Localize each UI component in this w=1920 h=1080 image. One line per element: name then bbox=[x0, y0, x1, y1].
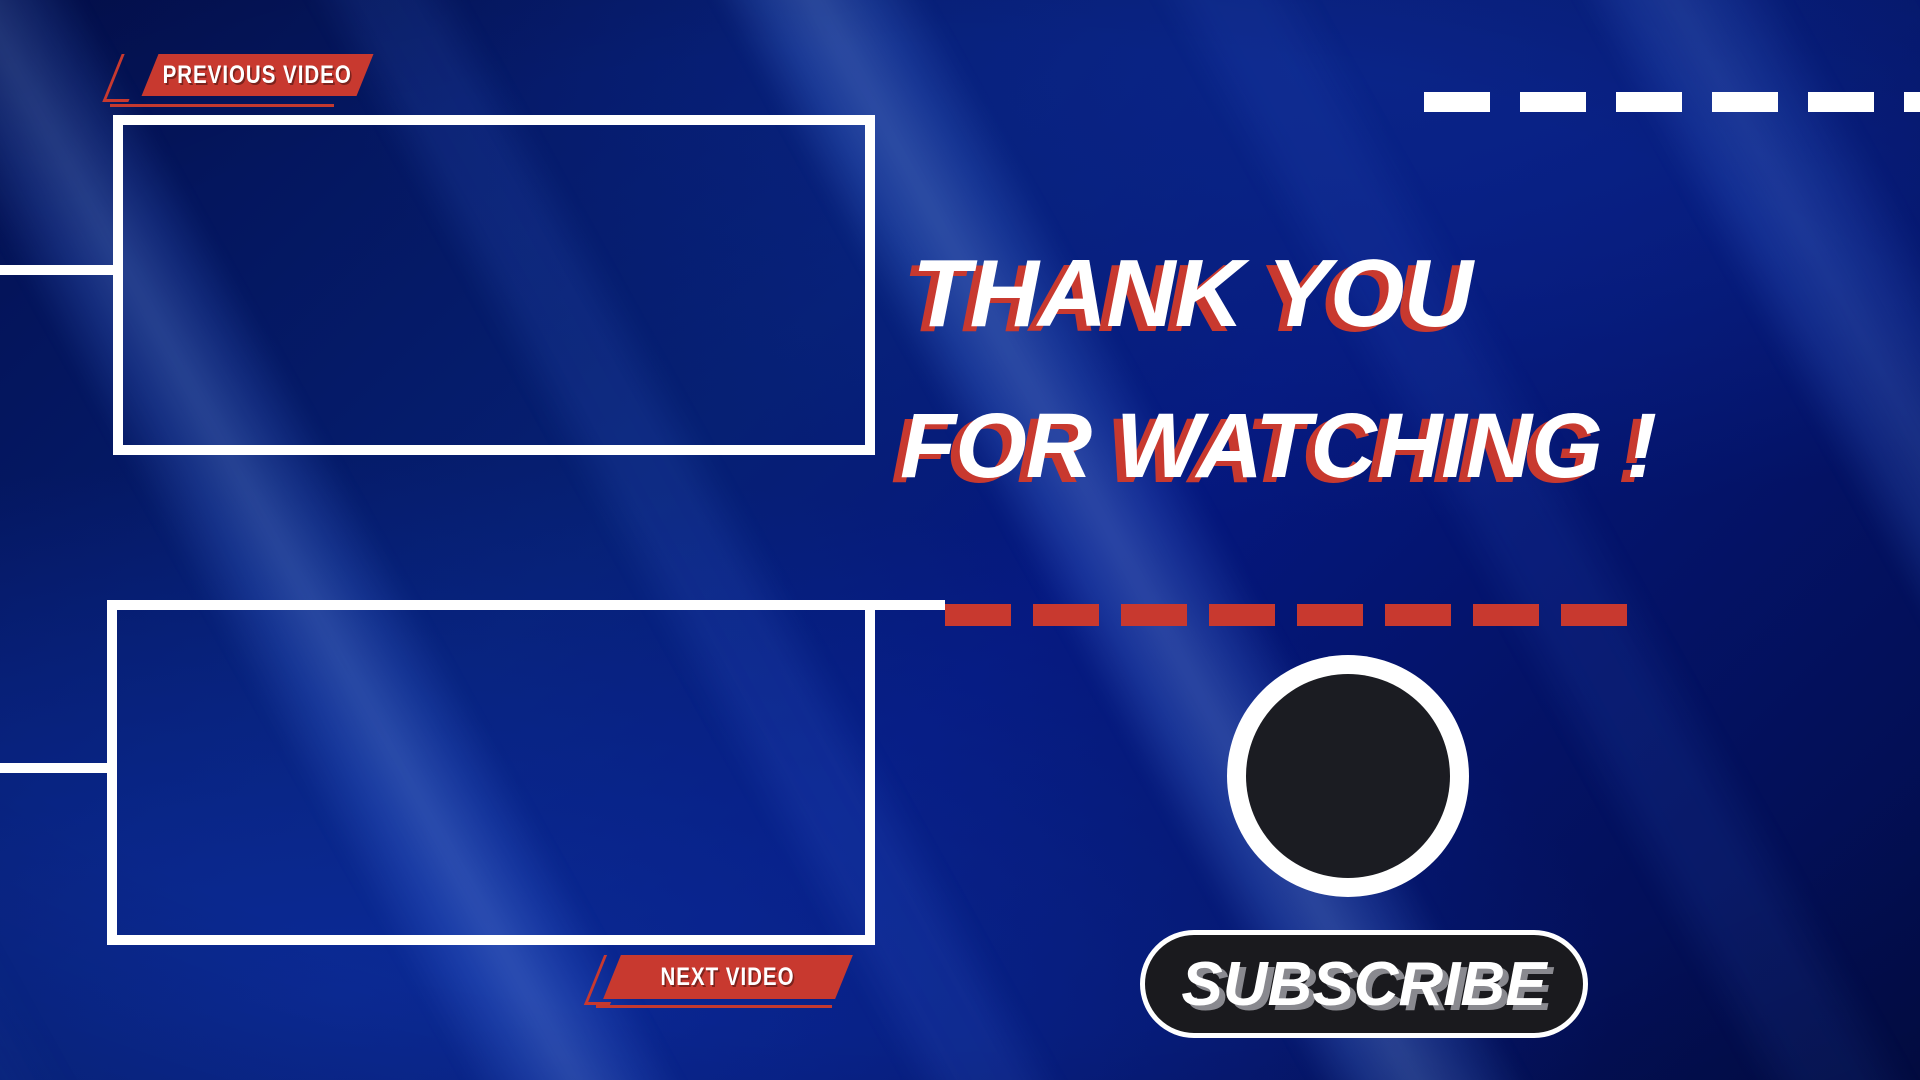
dashed-rule-red bbox=[945, 604, 1649, 626]
subscribe-button-label: SUBSCRIBE bbox=[1181, 949, 1546, 1020]
channel-avatar-placeholder bbox=[1246, 674, 1450, 878]
next-video-red-accent-rule bbox=[596, 1005, 832, 1008]
dash-segment bbox=[1033, 604, 1099, 626]
previous-video-ribbon-label: PREVIOUS VIDEO bbox=[163, 61, 352, 90]
dash-segment bbox=[1121, 604, 1187, 626]
next-video-top-edge-extension bbox=[875, 600, 945, 610]
headline-line-2: FOR WATCHING ! bbox=[900, 400, 1840, 492]
headline-line-1: THANK YOU bbox=[912, 246, 1840, 342]
dash-segment bbox=[1297, 604, 1363, 626]
dash-segment bbox=[1712, 92, 1778, 112]
previous-video-red-accent-rule bbox=[110, 104, 334, 107]
dash-segment bbox=[1904, 92, 1920, 112]
dash-segment bbox=[1209, 604, 1275, 626]
next-video-ribbon: NEXT VIDEO bbox=[603, 955, 853, 999]
dash-segment bbox=[1520, 92, 1586, 112]
next-video-thumbnail-slot[interactable] bbox=[107, 600, 875, 945]
dash-segment bbox=[1385, 604, 1451, 626]
dash-segment bbox=[1808, 92, 1874, 112]
dashed-rule-white bbox=[1424, 92, 1920, 112]
previous-video-connector-tick bbox=[0, 265, 113, 275]
end-screen-canvas: PREVIOUS VIDEO NEXT VIDEO THANK YOU FOR … bbox=[0, 0, 1920, 1080]
next-video-connector-tick bbox=[0, 763, 107, 773]
dash-segment bbox=[1473, 604, 1539, 626]
dash-segment bbox=[1424, 92, 1490, 112]
dash-segment bbox=[1561, 604, 1627, 626]
headline-block: THANK YOU FOR WATCHING ! bbox=[900, 246, 1840, 492]
subscribe-button[interactable]: SUBSCRIBE bbox=[1140, 930, 1588, 1038]
previous-video-ribbon: PREVIOUS VIDEO bbox=[142, 54, 374, 96]
dash-segment bbox=[945, 604, 1011, 626]
next-video-ribbon-label: NEXT VIDEO bbox=[661, 963, 795, 992]
channel-avatar-slot[interactable] bbox=[1227, 655, 1469, 897]
previous-video-thumbnail-slot[interactable] bbox=[113, 115, 875, 455]
dash-segment bbox=[1616, 92, 1682, 112]
